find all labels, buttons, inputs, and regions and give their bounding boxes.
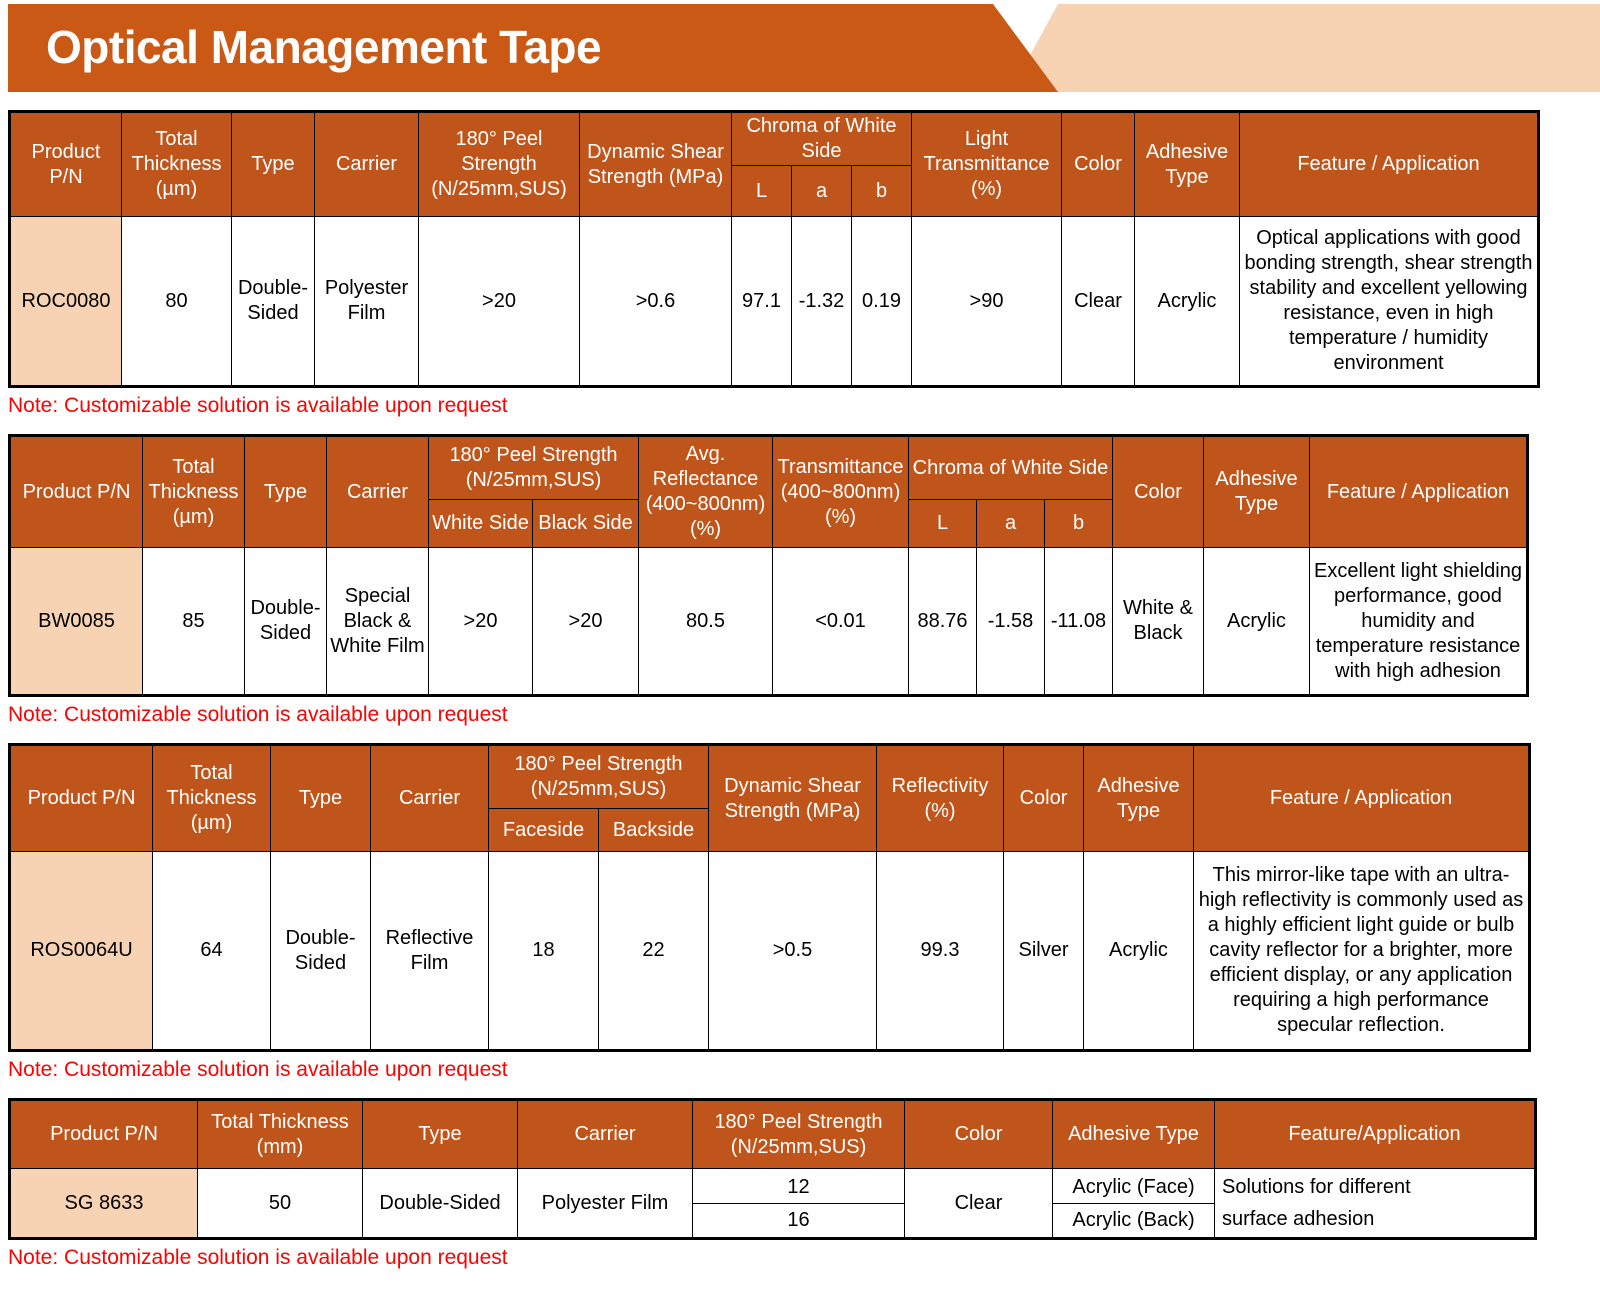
table-sg8633: Product P/N Total Thickness (mm) Type Ca… bbox=[8, 1098, 1537, 1240]
cell-avg-reflectance: 80.5 bbox=[639, 548, 773, 696]
table-row: BW0085 85 Double-Sided Special Black & W… bbox=[10, 548, 1528, 696]
cell-chroma-a: -1.58 bbox=[977, 548, 1045, 696]
cell-total-thickness: 80 bbox=[122, 217, 232, 387]
cell-peel-strength-top: 12 bbox=[693, 1171, 904, 1204]
cell-feature-line-2: surface adhesion bbox=[1215, 1203, 1534, 1235]
header-peel-group: 180° Peel Strength (N/25mm,SUS) bbox=[429, 436, 639, 500]
header-chroma-group: Chroma of White Side bbox=[732, 112, 912, 166]
header-color: Color bbox=[1113, 436, 1204, 548]
table-sg8633-wrapper: Product P/N Total Thickness (mm) Type Ca… bbox=[8, 1098, 1600, 1240]
cell-color: Clear bbox=[1062, 217, 1135, 387]
cell-carrier: Polyester Film bbox=[518, 1169, 693, 1239]
header-carrier: Carrier bbox=[518, 1100, 693, 1169]
header-peel-strength: 180° Peel Strength (N/25mm,SUS) bbox=[693, 1100, 905, 1169]
header-chroma-l: L bbox=[732, 166, 792, 217]
note-table-3: Note: Customizable solution is available… bbox=[8, 1056, 1600, 1084]
cell-adhesive-type-group: Acrylic (Face) Acrylic (Back) bbox=[1053, 1169, 1215, 1239]
cell-dynamic-shear: >0.5 bbox=[709, 852, 877, 1051]
header-color: Color bbox=[1062, 112, 1135, 217]
cell-feature: Optical applications with good bonding s… bbox=[1240, 217, 1539, 387]
cell-product-pn: BW0085 bbox=[10, 548, 143, 696]
header-type: Type bbox=[271, 745, 371, 852]
cell-dynamic-shear: >0.6 bbox=[580, 217, 732, 387]
header-carrier: Carrier bbox=[371, 745, 489, 852]
cell-type: Double-Sided bbox=[245, 548, 327, 696]
cell-feature-group: Solutions for different surface adhesion bbox=[1215, 1169, 1536, 1239]
cell-chroma-l: 97.1 bbox=[732, 217, 792, 387]
cell-light-transmittance: >90 bbox=[912, 217, 1062, 387]
cell-peel-faceside: 18 bbox=[489, 852, 599, 1051]
cell-product-pn: ROS0064U bbox=[10, 852, 153, 1051]
header-carrier: Carrier bbox=[327, 436, 429, 548]
header-color: Color bbox=[905, 1100, 1053, 1169]
table-header-row: Product P/N Total Thickness (µm) Type Ca… bbox=[10, 112, 1539, 166]
table-ros0064u-wrapper: Product P/N Total Thickness (µm) Type Ca… bbox=[8, 743, 1600, 1052]
cell-adhesive-type: Acrylic bbox=[1084, 852, 1194, 1051]
cell-chroma-b: 0.19 bbox=[852, 217, 912, 387]
cell-adhesive-type: Acrylic bbox=[1204, 548, 1310, 696]
table-header-row: Product P/N Total Thickness (µm) Type Ca… bbox=[10, 436, 1528, 500]
header-feature: Feature / Application bbox=[1240, 112, 1539, 217]
header-carrier: Carrier bbox=[315, 112, 419, 217]
cell-feature-line-1: Solutions for different bbox=[1215, 1171, 1534, 1203]
table-header-row: Product P/N Total Thickness (µm) Type Ca… bbox=[10, 745, 1530, 809]
header-adhesive-type: Adhesive Type bbox=[1135, 112, 1240, 217]
header-peel-strength: 180° Peel Strength (N/25mm,SUS) bbox=[419, 112, 580, 217]
header-peel-backside: Backside bbox=[599, 809, 709, 852]
cell-product-pn: ROC0080 bbox=[10, 217, 122, 387]
cell-total-thickness: 85 bbox=[143, 548, 245, 696]
page-title: Optical Management Tape bbox=[46, 16, 601, 78]
header-transmittance: Transmittance (400~800nm) (%) bbox=[773, 436, 909, 548]
header-chroma-group: Chroma of White Side bbox=[909, 436, 1113, 500]
table-roc0080: Product P/N Total Thickness (µm) Type Ca… bbox=[8, 110, 1540, 388]
header-peel-white-side: White Side bbox=[429, 500, 533, 548]
table-ros0064u: Product P/N Total Thickness (µm) Type Ca… bbox=[8, 743, 1531, 1052]
header-product-pn: Product P/N bbox=[10, 1100, 198, 1169]
table-row: ROS0064U 64 Double-Sided Reflective Film… bbox=[10, 852, 1530, 1051]
table-row: SG 8633 50 Double-Sided Polyester Film 1… bbox=[10, 1169, 1536, 1239]
cell-type: Double-Sided bbox=[363, 1169, 518, 1239]
header-type: Type bbox=[363, 1100, 518, 1169]
cell-adhesive-type-face: Acrylic (Face) bbox=[1053, 1171, 1214, 1204]
header-color: Color bbox=[1004, 745, 1084, 852]
header-chroma-b: b bbox=[852, 166, 912, 217]
header-total-thickness: Total Thickness (µm) bbox=[122, 112, 232, 217]
cell-reflectivity: 99.3 bbox=[877, 852, 1004, 1051]
note-table-4: Note: Customizable solution is available… bbox=[8, 1244, 1600, 1272]
cell-color: Clear bbox=[905, 1169, 1053, 1239]
cell-peel-black-side: >20 bbox=[533, 548, 639, 696]
cell-color: Silver bbox=[1004, 852, 1084, 1051]
cell-total-thickness: 50 bbox=[198, 1169, 363, 1239]
note-table-1: Note: Customizable solution is available… bbox=[8, 392, 1600, 420]
cell-adhesive-type: Acrylic bbox=[1135, 217, 1240, 387]
table-bw0085-wrapper: Product P/N Total Thickness (µm) Type Ca… bbox=[8, 434, 1600, 697]
header-peel-black-side: Black Side bbox=[533, 500, 639, 548]
cell-color: White & Black bbox=[1113, 548, 1204, 696]
cell-chroma-l: 88.76 bbox=[909, 548, 977, 696]
cell-peel-strength-group: 12 16 bbox=[693, 1169, 905, 1239]
header-total-thickness: Total Thickness (mm) bbox=[198, 1100, 363, 1169]
header-product-pn: Product P/N bbox=[10, 745, 153, 852]
header-total-thickness: Total Thickness (µm) bbox=[153, 745, 271, 852]
table-bw0085: Product P/N Total Thickness (µm) Type Ca… bbox=[8, 434, 1529, 697]
header-product-pn: Product P/N bbox=[10, 112, 122, 217]
header-dynamic-shear: Dynamic Shear Strength (MPa) bbox=[580, 112, 732, 217]
cell-carrier: Special Black & White Film bbox=[327, 548, 429, 696]
cell-adhesive-type-back: Acrylic (Back) bbox=[1053, 1204, 1214, 1236]
cell-feature: Excellent light shielding performance, g… bbox=[1310, 548, 1528, 696]
header-type: Type bbox=[232, 112, 315, 217]
cell-total-thickness: 64 bbox=[153, 852, 271, 1051]
header-adhesive-type: Adhesive Type bbox=[1053, 1100, 1215, 1169]
header-chroma-b: b bbox=[1045, 500, 1113, 548]
table-roc0080-wrapper: Product P/N Total Thickness (µm) Type Ca… bbox=[8, 110, 1600, 388]
cell-carrier: Reflective Film bbox=[371, 852, 489, 1051]
header-light-transmittance: Light Transmittance (%) bbox=[912, 112, 1062, 217]
cell-chroma-a: -1.32 bbox=[792, 217, 852, 387]
note-table-2: Note: Customizable solution is available… bbox=[8, 701, 1600, 729]
table-header-row: Product P/N Total Thickness (mm) Type Ca… bbox=[10, 1100, 1536, 1169]
header-adhesive-type: Adhesive Type bbox=[1084, 745, 1194, 852]
cell-product-pn: SG 8633 bbox=[10, 1169, 198, 1239]
cell-peel-strength: >20 bbox=[419, 217, 580, 387]
header-total-thickness: Total Thickness (µm) bbox=[143, 436, 245, 548]
header-reflectivity: Reflectivity (%) bbox=[877, 745, 1004, 852]
cell-feature: This mirror-like tape with an ultra-high… bbox=[1194, 852, 1530, 1051]
table-row: ROC0080 80 Double-Sided Polyester Film >… bbox=[10, 217, 1539, 387]
header-dynamic-shear: Dynamic Shear Strength (MPa) bbox=[709, 745, 877, 852]
header-adhesive-type: Adhesive Type bbox=[1204, 436, 1310, 548]
header-avg-reflectance: Avg. Reflectance (400~800nm) (%) bbox=[639, 436, 773, 548]
cell-peel-backside: 22 bbox=[599, 852, 709, 1051]
cell-chroma-b: -11.08 bbox=[1045, 548, 1113, 696]
header-chroma-a: a bbox=[792, 166, 852, 217]
header-chroma-l: L bbox=[909, 500, 977, 548]
header-peel-group: 180° Peel Strength (N/25mm,SUS) bbox=[489, 745, 709, 809]
header-type: Type bbox=[245, 436, 327, 548]
cell-carrier: Polyester Film bbox=[315, 217, 419, 387]
cell-peel-white-side: >20 bbox=[429, 548, 533, 696]
cell-type: Double-Sided bbox=[271, 852, 371, 1051]
header-feature: Feature/Application bbox=[1215, 1100, 1536, 1169]
page-banner: Optical Management Tape bbox=[0, 4, 1600, 92]
header-chroma-a: a bbox=[977, 500, 1045, 548]
cell-peel-strength-bottom: 16 bbox=[693, 1204, 904, 1236]
cell-type: Double-Sided bbox=[232, 217, 315, 387]
cell-transmittance: <0.01 bbox=[773, 548, 909, 696]
banner-light-shape bbox=[1010, 4, 1600, 92]
header-peel-faceside: Faceside bbox=[489, 809, 599, 852]
header-feature: Feature / Application bbox=[1310, 436, 1528, 548]
header-feature: Feature / Application bbox=[1194, 745, 1530, 852]
header-product-pn: Product P/N bbox=[10, 436, 143, 548]
